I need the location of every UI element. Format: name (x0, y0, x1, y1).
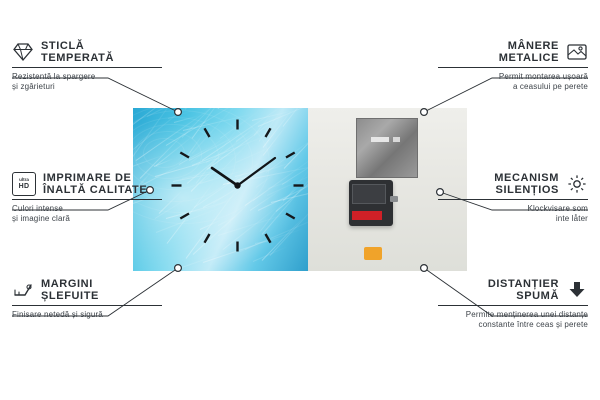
hd-icon-main-label: HD (19, 183, 30, 190)
mechanism-shaft (390, 196, 398, 202)
callout-title-line1: MÂNERE (499, 40, 559, 52)
edge-icon (12, 279, 34, 301)
callout-title-line2: ÎNALTĂ CALITATE (43, 184, 147, 196)
callout-desc-line2: și zgârieturi (12, 82, 162, 92)
callout-title-line2: TEMPERATĂ (41, 52, 114, 64)
callout-header: STICLĂ TEMPERATĂ (12, 40, 162, 64)
callout-title-line1: MARGINI (41, 278, 99, 290)
clock-minute-hand (238, 158, 276, 186)
callout-desc-line2: și imagine clară (12, 214, 162, 224)
callout-divider (438, 67, 588, 68)
hanger-slot-secondary (393, 137, 400, 142)
infographic-canvas: STICLĂ TEMPERATĂ Rezistentă la spargere … (0, 0, 600, 400)
callout-divider (12, 199, 162, 200)
down-arrow-icon (566, 279, 588, 301)
metal-hanger-plate (356, 118, 418, 178)
callout-desc-line1: Rezistentă la spargere (12, 72, 162, 82)
callout-divider (12, 67, 162, 68)
callout-header: MECANISM SILENȚIOS (438, 172, 588, 196)
callout-imprimare-hd: ultra HD IMPRIMARE DE ÎNALTĂ CALITATE Cu… (12, 172, 162, 224)
callout-title-line1: DISTANȚIER (488, 278, 559, 290)
callout-desc-line1: Klockvisare som (438, 204, 588, 214)
clock-mechanism (349, 180, 393, 226)
callout-divider (438, 305, 588, 306)
callout-title-line2: SILENȚIOS (494, 184, 559, 196)
hanger-slot (371, 137, 389, 142)
callout-title-line1: IMPRIMARE DE (43, 172, 147, 184)
callout-divider (12, 305, 162, 306)
callout-title-line2: SPUMĂ (488, 290, 559, 302)
callout-sticla-temperata: STICLĂ TEMPERATĂ Rezistentă la spargere … (12, 40, 162, 92)
gear-icon (566, 173, 588, 195)
callout-header: MARGINI ȘLEFUITE (12, 278, 162, 302)
callout-distantier-spuma: DISTANȚIER SPUMĂ Permite menținerea unei… (438, 278, 588, 330)
callout-desc-line2: inte låter (438, 214, 588, 224)
clock-center-cap (234, 182, 240, 188)
callout-divider (438, 199, 588, 200)
foam-spacer (364, 247, 382, 260)
callout-desc-line2: a ceasului pe perete (438, 82, 588, 92)
callout-title-line2: METALICE (499, 52, 559, 64)
diamond-icon (12, 41, 34, 63)
clock-hour-hand (212, 168, 238, 186)
mechanism-label (352, 184, 386, 204)
callout-desc-line1: Permite menținerea unei distanțe (438, 310, 588, 320)
callout-header: DISTANȚIER SPUMĂ (438, 278, 588, 302)
hd-icon: ultra HD (12, 172, 36, 196)
callout-header: ultra HD IMPRIMARE DE ÎNALTĂ CALITATE (12, 172, 162, 196)
callout-mecanism-silentios: MECANISM SILENȚIOS Klockvisare som inte … (438, 172, 588, 224)
clock-face-overlay (160, 108, 315, 263)
callout-manere-metalice: MÂNERE METALICE Permit montarea ușoară a… (438, 40, 588, 92)
callout-title-line2: ȘLEFUITE (41, 290, 99, 302)
hanger-icon (566, 41, 588, 63)
callout-desc-line1: Culori intense (12, 204, 162, 214)
callout-title-line1: MECANISM (494, 172, 559, 184)
mechanism-red-band (352, 211, 382, 220)
callout-title-line1: STICLĂ (41, 40, 114, 52)
callout-header: MÂNERE METALICE (438, 40, 588, 64)
callout-desc-line2: constante între ceas și perete (438, 320, 588, 330)
callout-desc-line1: Permit montarea ușoară (438, 72, 588, 82)
callout-desc-line1: Finisare netedă și sigură (12, 310, 162, 320)
callout-margini-slefuite: MARGINI ȘLEFUITE Finisare netedă și sigu… (12, 278, 162, 320)
